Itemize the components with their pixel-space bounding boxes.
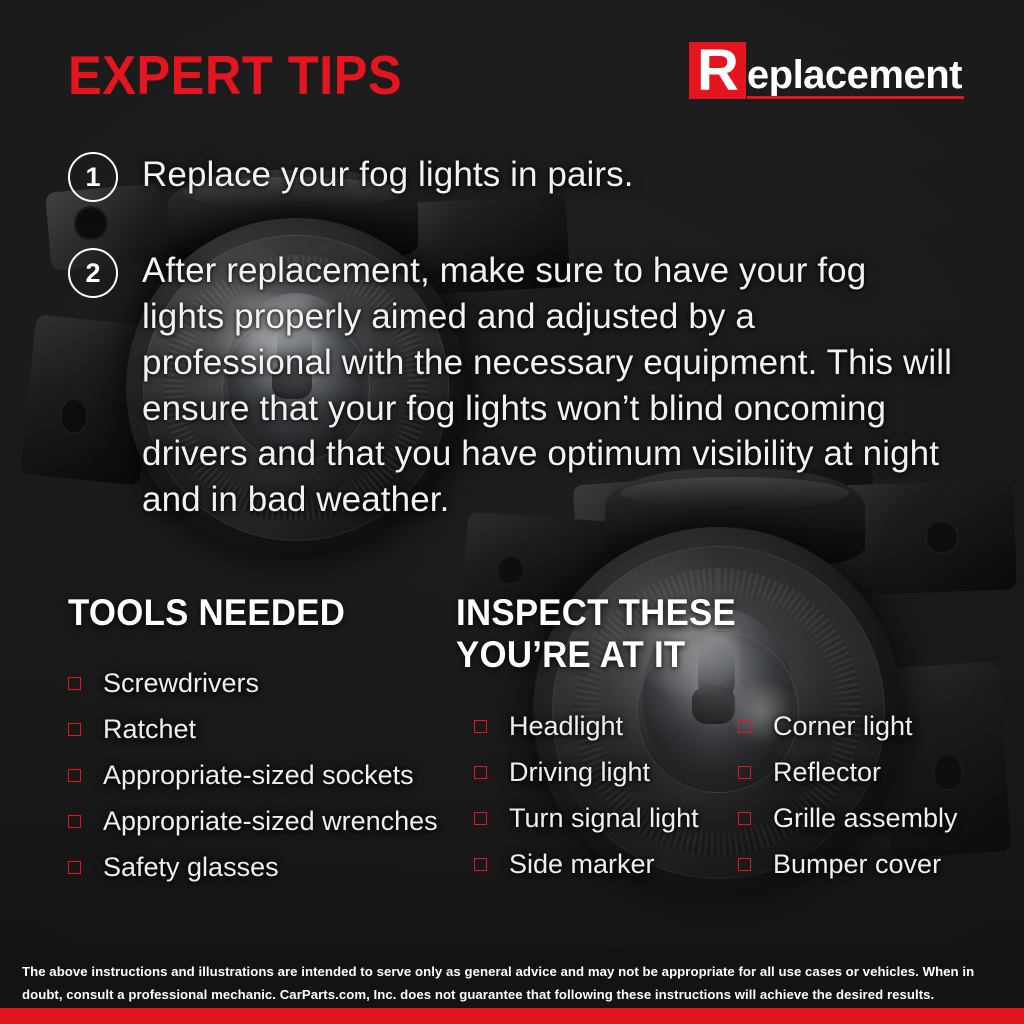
checkbox-icon[interactable] [474,766,487,779]
list-item-label: Reflector [773,759,881,786]
list-item[interactable]: Appropriate-sized wrenches [68,798,438,844]
tip-number-2: 2 [68,248,118,298]
brand-word-wrap: eplacement [747,55,962,99]
checkbox-icon[interactable] [738,766,751,779]
list-item[interactable]: Screwdrivers [68,660,438,706]
brand-word: eplacement [747,55,962,95]
brand-mark-r: R [689,42,746,99]
list-item-label: Driving light [509,759,650,786]
checkbox-icon[interactable] [68,677,81,690]
checkbox-icon[interactable] [474,812,487,825]
checkbox-icon[interactable] [474,858,487,871]
inspect-list-column-b: Corner light Reflector Grille assembly B… [738,703,958,887]
list-item[interactable]: Grille assembly [738,795,958,841]
checkbox-icon[interactable] [738,812,751,825]
inspect-heading-line-2: YOU’RE AT IT [456,634,738,676]
list-item-label: Bumper cover [773,851,941,878]
list-item[interactable]: Turn signal light [474,795,699,841]
list-item-label: Ratchet [103,716,196,743]
list-item[interactable]: Safety glasses [68,844,438,890]
footer-accent-bar [0,1008,1024,1024]
tools-needed-list: Screwdrivers Ratchet Appropriate-sized s… [68,660,438,890]
inspect-list-column-a: Headlight Driving light Turn signal ligh… [474,703,699,887]
page-title: EXPERT TIPS [68,48,402,103]
inspect-heading-line-1: INSPECT THESE [456,592,738,634]
checkbox-icon[interactable] [738,858,751,871]
list-item[interactable]: Ratchet [68,706,438,752]
list-item[interactable]: Headlight [474,703,699,749]
tip-item-2: 2 After replacement, make sure to have y… [68,248,973,523]
checkbox-icon[interactable] [474,720,487,733]
list-item[interactable]: Reflector [738,749,958,795]
list-item-label: Grille assembly [773,805,958,832]
list-item-label: Appropriate-sized sockets [103,762,414,789]
checkbox-icon[interactable] [68,769,81,782]
inspect-these-heading: INSPECT THESE YOU’RE AT IT [456,592,738,676]
tip-text-1: Replace your fog lights in pairs. [142,152,634,198]
list-item[interactable]: Appropriate-sized sockets [68,752,438,798]
list-item-label: Headlight [509,713,623,740]
checkbox-icon[interactable] [68,861,81,874]
checkbox-icon[interactable] [68,815,81,828]
list-item-label: Appropriate-sized wrenches [103,808,438,835]
list-item-label: Safety glasses [103,854,279,881]
content-layer: EXPERT TIPS R eplacement 1 Replace your … [0,0,1024,1024]
list-item-label: Side marker [509,851,655,878]
tip-text-2: After replacement, make sure to have you… [142,248,952,523]
footer-disclaimer-bar: The above instructions and illustrations… [0,945,1024,1008]
list-item[interactable]: Side marker [474,841,699,887]
footer-disclaimer-text: The above instructions and illustrations… [22,961,1002,1006]
list-item[interactable]: Driving light [474,749,699,795]
tip-number-1: 1 [68,152,118,202]
list-item-label: Corner light [773,713,913,740]
list-item[interactable]: Corner light [738,703,958,749]
tools-needed-heading: TOOLS NEEDED [68,592,345,634]
list-item-label: Screwdrivers [103,670,259,697]
replacement-brand-logo: R eplacement [689,42,962,99]
checkbox-icon[interactable] [738,720,751,733]
brand-underline [747,96,964,99]
list-item-label: Turn signal light [509,805,699,832]
expert-tips-graphic: EXPERT TIPS R eplacement 1 Replace your … [0,0,1024,1024]
checkbox-icon[interactable] [68,723,81,736]
tip-item-1: 1 Replace your fog lights in pairs. [68,152,948,202]
list-item[interactable]: Bumper cover [738,841,958,887]
